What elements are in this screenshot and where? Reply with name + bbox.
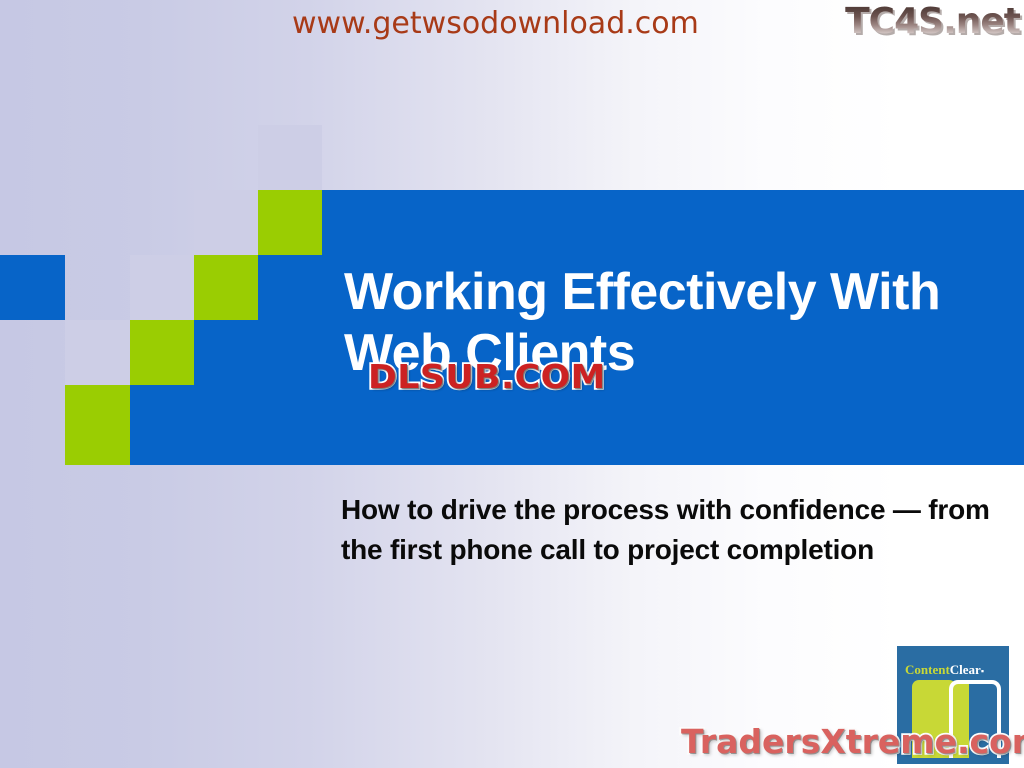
mosaic-cell [130,255,194,320]
contentclear-wordmark: ContentClear▪ [905,662,984,678]
tc4s-logo-text: TC4S.net [845,1,1020,42]
mosaic-cell [130,320,194,385]
presentation-slide: Working Effectively With Web Clients How… [0,0,1024,768]
watermark-tradersxtreme: TradersXtreme.com [681,722,1024,761]
tc4s-logo: TC4S.net TC4S.net [806,0,1022,46]
contentclear-word-clear: Clear [950,662,981,677]
watermark-dlsub: DLSUB.COM [368,357,606,396]
subtitle-text: How to drive the process with confidence… [341,490,991,570]
mosaic-cell [194,190,258,255]
mosaic-cell [130,385,322,465]
contentclear-word-content: Content [905,662,950,677]
contentclear-trailing-mark: ▪ [981,666,984,676]
mosaic-cell [65,385,130,465]
mosaic-cell [0,255,65,320]
mosaic-cell [258,190,322,255]
mosaic-cell [194,320,322,385]
watermark-url: www.getwsodownload.com [292,6,699,41]
mosaic-cell [258,125,322,190]
mosaic-cell [65,320,130,385]
mosaic-cell [258,255,322,320]
mosaic-cell [194,255,258,320]
